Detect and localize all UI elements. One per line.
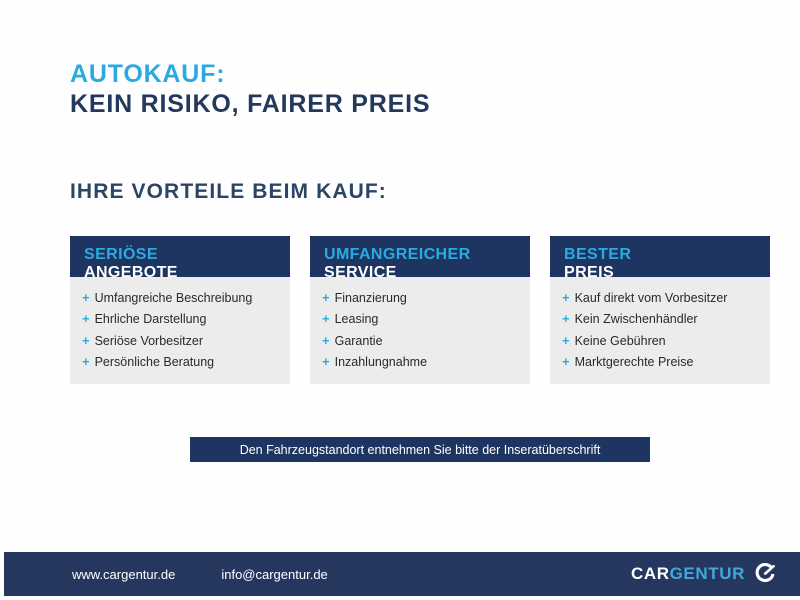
footer-bar: www.cargentur.de info@cargentur.de CAR G… xyxy=(4,552,800,596)
list-item-label: Persönliche Beratung xyxy=(95,352,215,372)
card-title-accent: UMFANGREICHER xyxy=(324,246,518,264)
list-item: + Finanzierung xyxy=(322,287,520,308)
list-item-label: Marktgerechte Preise xyxy=(575,352,694,372)
card-feature-list: + Kauf direkt vom Vorbesitzer + Kein Zwi… xyxy=(550,277,770,384)
plus-icon: + xyxy=(82,287,90,308)
list-item-label: Garantie xyxy=(335,331,383,351)
plus-icon: + xyxy=(322,330,330,351)
plus-icon: + xyxy=(82,351,90,372)
plus-icon: + xyxy=(562,308,570,329)
card-title-accent: BESTER xyxy=(564,246,758,264)
list-item: + Marktgerechte Preise xyxy=(562,351,760,372)
list-item-label: Kauf direkt vom Vorbesitzer xyxy=(575,288,728,308)
plus-icon: + xyxy=(322,287,330,308)
list-item: + Persönliche Beratung xyxy=(82,351,280,372)
location-notice-banner: Den Fahrzeugstandort entnehmen Sie bitte… xyxy=(190,437,650,462)
list-item-label: Leasing xyxy=(335,309,379,329)
benefit-card-group: SERIÖSE ANGEBOTE + Umfangreiche Beschrei… xyxy=(70,236,770,384)
plus-icon: + xyxy=(562,287,570,308)
list-item: + Garantie xyxy=(322,330,520,351)
list-item-label: Seriöse Vorbesitzer xyxy=(95,331,203,351)
page-title: AUTOKAUF: KEIN RISIKO, FAIRER PREIS xyxy=(70,60,430,119)
list-item: + Seriöse Vorbesitzer xyxy=(82,330,280,351)
footer-website-link[interactable]: www.cargentur.de xyxy=(72,567,175,582)
plus-icon: + xyxy=(562,351,570,372)
list-item-label: Ehrliche Darstellung xyxy=(95,309,207,329)
logo-text-secondary: GENTUR xyxy=(670,564,745,584)
page-title-line-1: AUTOKAUF: xyxy=(70,60,430,90)
benefit-card-umfangreicher-service: UMFANGREICHER SERVICE + Finanzierung + L… xyxy=(310,236,530,384)
list-item: + Kein Zwischenhändler xyxy=(562,308,760,329)
plus-icon: + xyxy=(322,351,330,372)
card-header: SERIÖSE ANGEBOTE xyxy=(70,236,290,277)
page-title-line-2: KEIN RISIKO, FAIRER PREIS xyxy=(70,90,430,120)
location-notice-text: Den Fahrzeugstandort entnehmen Sie bitte… xyxy=(240,443,601,457)
card-title-accent: SERIÖSE xyxy=(84,246,278,264)
plus-icon: + xyxy=(562,330,570,351)
list-item-label: Inzahlungnahme xyxy=(335,352,427,372)
benefit-card-bester-preis: BESTER PREIS + Kauf direkt vom Vorbesitz… xyxy=(550,236,770,384)
list-item: + Kauf direkt vom Vorbesitzer xyxy=(562,287,760,308)
footer-email-link[interactable]: info@cargentur.de xyxy=(221,567,327,582)
logo-text-primary: CAR xyxy=(631,564,670,584)
cargentur-c-circle-icon xyxy=(754,563,776,585)
list-item: + Umfangreiche Beschreibung xyxy=(82,287,280,308)
brand-logo: CAR GENTUR xyxy=(631,563,776,585)
list-item: + Ehrliche Darstellung xyxy=(82,308,280,329)
list-item-label: Kein Zwischenhändler xyxy=(575,309,698,329)
list-item-label: Umfangreiche Beschreibung xyxy=(95,288,253,308)
card-header: BESTER PREIS xyxy=(550,236,770,277)
plus-icon: + xyxy=(82,330,90,351)
list-item-label: Finanzierung xyxy=(335,288,407,308)
benefit-card-serioese-angebote: SERIÖSE ANGEBOTE + Umfangreiche Beschrei… xyxy=(70,236,290,384)
section-subheading: IHRE VORTEILE BEIM KAUF: xyxy=(70,180,387,204)
plus-icon: + xyxy=(82,308,90,329)
slide-canvas: AUTOKAUF: KEIN RISIKO, FAIRER PREIS IHRE… xyxy=(0,0,800,600)
card-feature-list: + Umfangreiche Beschreibung + Ehrliche D… xyxy=(70,277,290,384)
plus-icon: + xyxy=(322,308,330,329)
list-item-label: Keine Gebühren xyxy=(575,331,666,351)
list-item: + Inzahlungnahme xyxy=(322,351,520,372)
list-item: + Keine Gebühren xyxy=(562,330,760,351)
list-item: + Leasing xyxy=(322,308,520,329)
card-header: UMFANGREICHER SERVICE xyxy=(310,236,530,277)
card-feature-list: + Finanzierung + Leasing + Garantie + In… xyxy=(310,277,530,384)
